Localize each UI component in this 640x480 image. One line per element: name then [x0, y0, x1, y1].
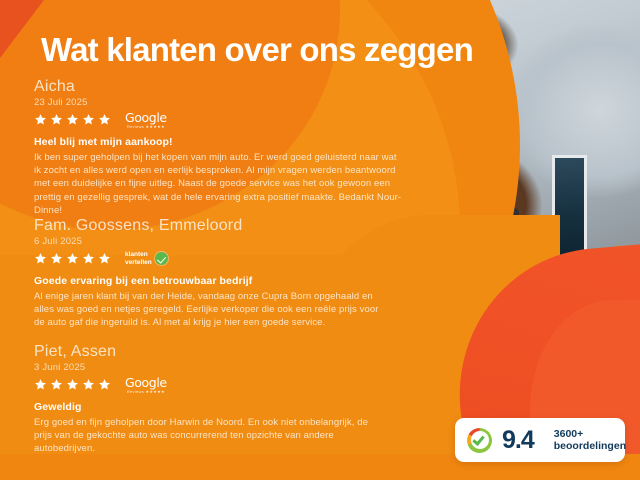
google-reviews-subtitle: Reviews ★★★★★	[127, 124, 165, 129]
google-reviews-logo: Google Reviews ★★★★★	[125, 110, 167, 129]
star-icon	[34, 113, 47, 126]
score-value: 9.4	[502, 426, 534, 455]
klantenvertellen-line1: klanten	[125, 251, 148, 258]
star-rating	[34, 252, 111, 265]
star-icon	[66, 252, 79, 265]
star-icon	[50, 378, 63, 391]
reviewer-name: Aicha	[34, 78, 406, 96]
review-body: Ik ben super geholpen bij het kopen van …	[34, 151, 406, 217]
star-icon	[82, 252, 95, 265]
review-date: 23 Juli 2025	[34, 97, 406, 108]
star-icon	[50, 113, 63, 126]
review-title: Geweldig	[34, 401, 382, 413]
klantenvertellen-line2: vertellen	[125, 259, 152, 266]
google-wordmark: Google	[125, 110, 167, 125]
banner-content: Wat klanten over ons zeggen Aicha 23 Jul…	[0, 0, 640, 480]
star-icon	[98, 113, 111, 126]
review-meta: Google Reviews ★★★★★	[34, 376, 382, 393]
google-reviews-logo: Google Reviews ★★★★★	[125, 375, 167, 394]
review-card: Aicha 23 Juli 2025 Google Reviews ★★★★★ …	[34, 78, 406, 217]
star-icon	[82, 113, 95, 126]
reviewer-name: Piet, Assen	[34, 343, 382, 361]
review-meta: klanten vertellen	[34, 250, 382, 267]
review-card: Piet, Assen 3 Juni 2025 Google Reviews ★…	[34, 343, 382, 456]
promo-banner: CC handelaar VDH Wat klanten over ons ze…	[0, 0, 640, 480]
review-meta: Google Reviews ★★★★★	[34, 111, 406, 128]
google-wordmark: Google	[125, 375, 167, 390]
review-date: 6 Juli 2025	[34, 236, 382, 247]
klantenvertellen-wordmark: klanten vertellen	[125, 251, 152, 266]
review-body: Erg goed en fijn geholpen door Harwin de…	[34, 416, 382, 456]
google-reviews-subtitle: Reviews ★★★★★	[127, 389, 165, 394]
klantenvertellen-logo: klanten vertellen	[125, 251, 168, 266]
star-icon	[98, 252, 111, 265]
klantenvertellen-check-logo-icon	[467, 428, 492, 453]
review-card: Fam. Goossens, Emmeloord 6 Juli 2025 kla…	[34, 217, 382, 330]
star-icon	[34, 378, 47, 391]
review-date: 3 Juni 2025	[34, 362, 382, 373]
star-rating	[34, 113, 111, 126]
score-badge[interactable]: 9.4 3600+ beoordelingen	[455, 418, 625, 462]
check-badge-icon	[155, 252, 168, 265]
review-title: Heel blij met mijn aankoop!	[34, 136, 406, 148]
score-count-number: 3600+	[554, 428, 584, 440]
review-body: Al enige jaren klant bij van der Heide, …	[34, 290, 382, 330]
star-icon	[34, 252, 47, 265]
star-rating	[34, 378, 111, 391]
reviewer-name: Fam. Goossens, Emmeloord	[34, 217, 382, 235]
page-title: Wat klanten over ons zeggen	[41, 31, 473, 69]
score-count-label: beoordelingen	[554, 440, 626, 452]
score-count: 3600+ beoordelingen	[554, 428, 626, 453]
review-title: Goede ervaring bij een betrouwbaar bedri…	[34, 275, 382, 287]
star-icon	[66, 113, 79, 126]
star-icon	[66, 378, 79, 391]
star-icon	[50, 252, 63, 265]
star-icon	[82, 378, 95, 391]
star-icon	[98, 378, 111, 391]
